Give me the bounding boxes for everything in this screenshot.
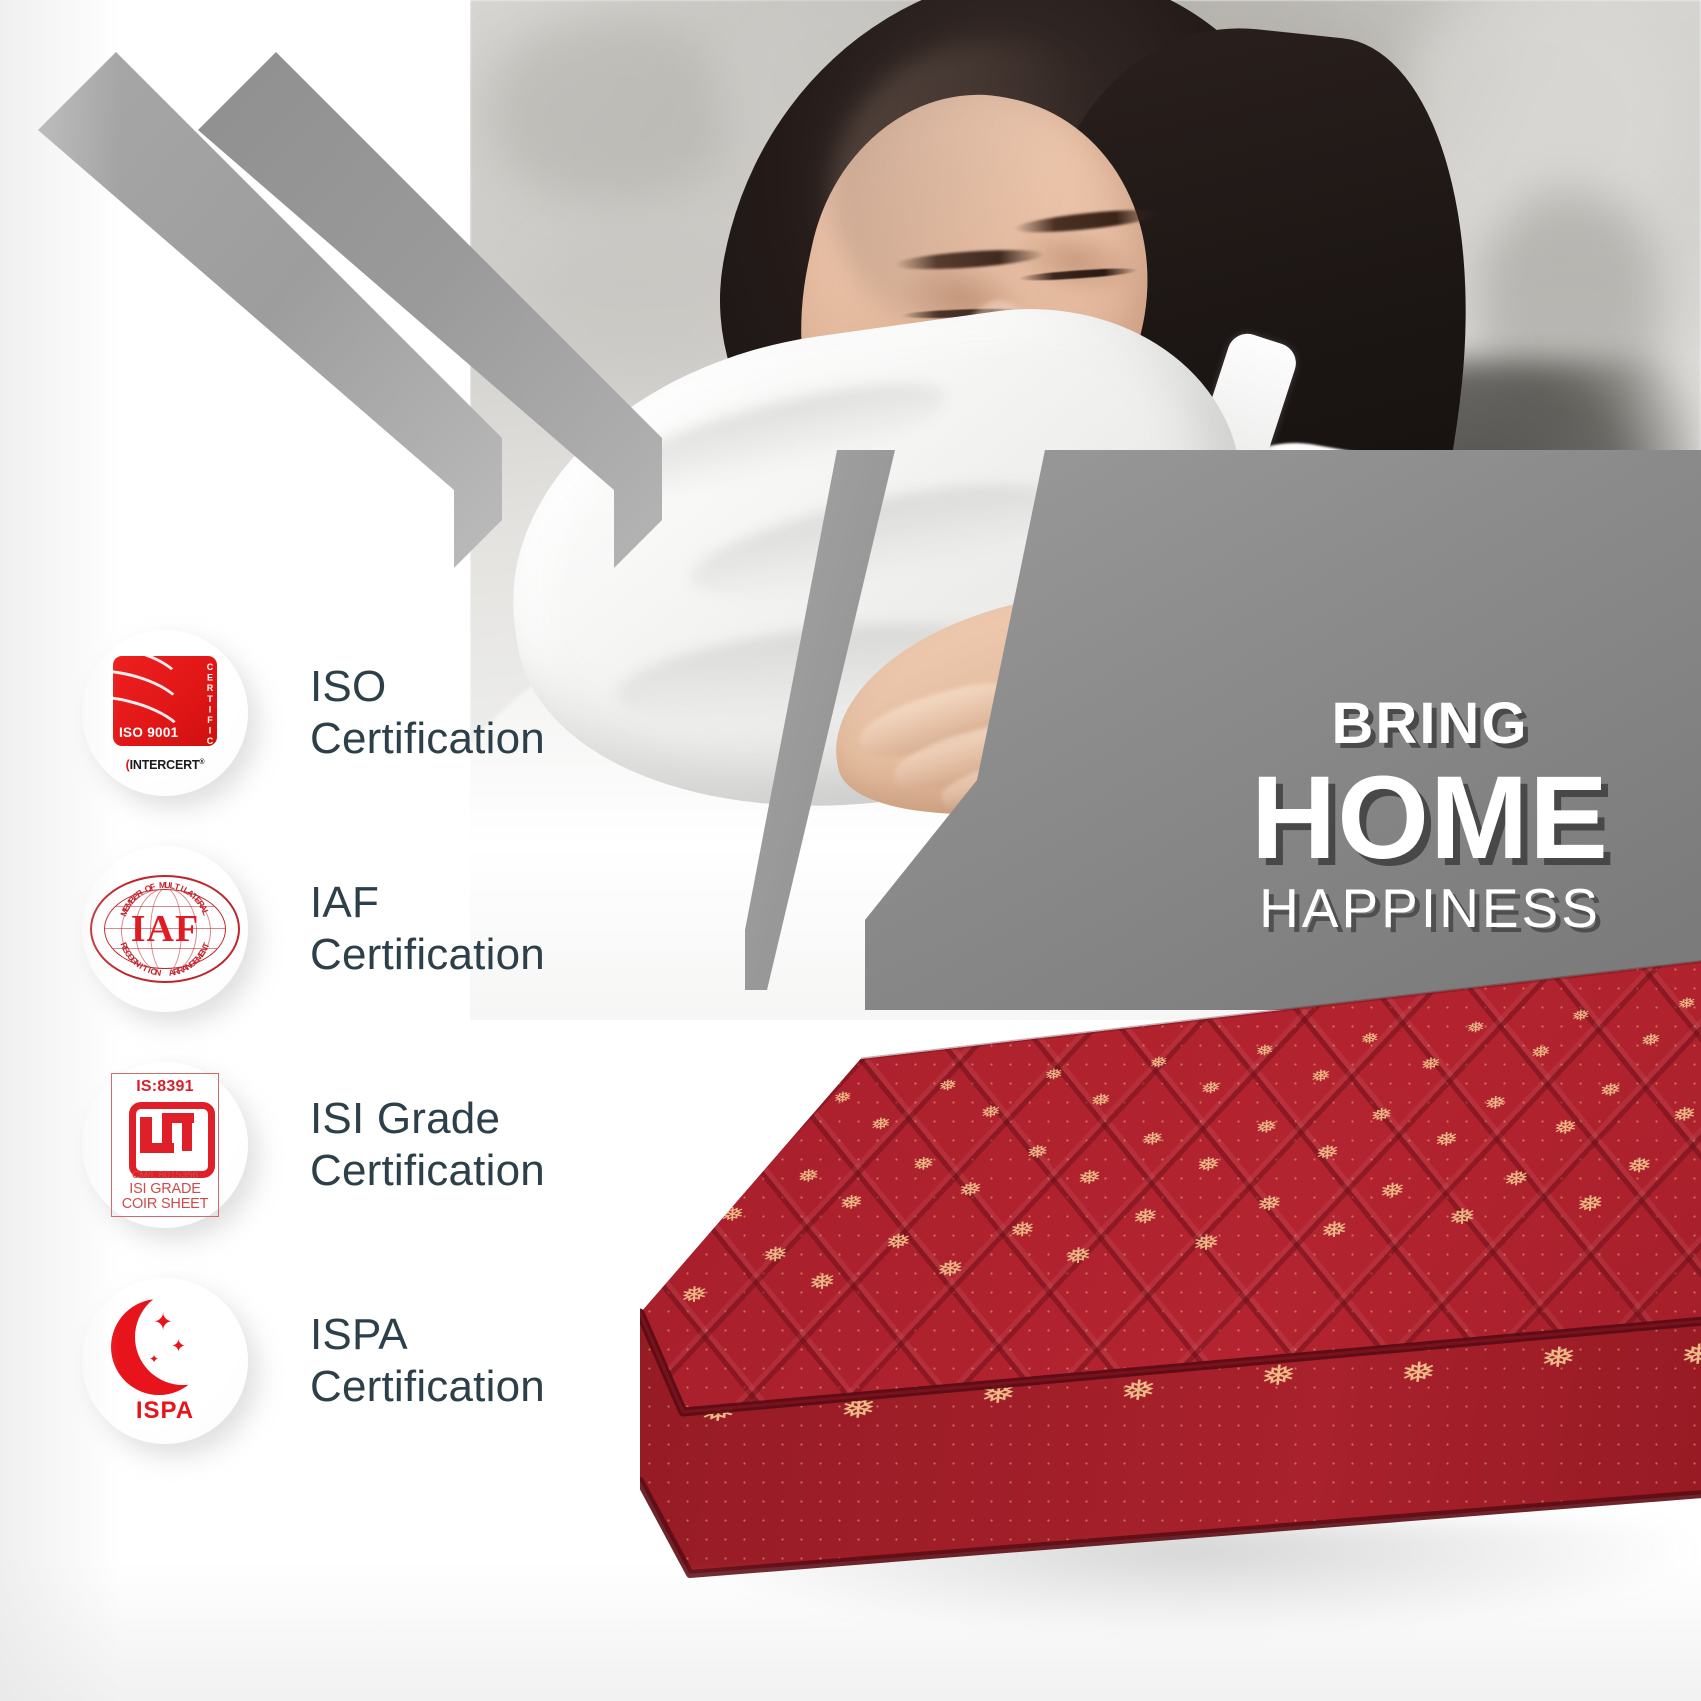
star-icon: ✦ (171, 1337, 186, 1355)
chevron-left-decoration-icon (30, 20, 750, 620)
certification-item-iaf[interactable]: IAF MEMBER OF MULTILATERAL RECOGNITION A… (82, 844, 642, 1014)
certification-label-isi: ISI Grade Certification (310, 1093, 545, 1197)
star-icon: ✦ (149, 1353, 159, 1365)
iaf-globe-badge-icon: IAF MEMBER OF MULTILATERAL RECOGNITION A… (82, 846, 248, 1012)
registered-mark: ® (199, 759, 204, 766)
iso-standard-text: ISO 9001 (119, 725, 178, 740)
red-quilted-coir-mattress: ❅❅❅❅❅❅❅❅❅❅❅❅❅❅❅❅❅❅❅❅❅❅❅❅❅❅❅❅❅❅❅❅❅❅❅❅❅❅❅❅… (640, 960, 1701, 1580)
gray-accent-stripe (745, 450, 895, 990)
ispa-crescent-moon-icon: ✦ ✦ ✦ ISPA (82, 1278, 248, 1444)
certification-label-iaf: IAF Certification (310, 877, 545, 981)
intercert-wordmark: (INTERCERT® (113, 758, 217, 772)
isi-standard-number: IS:8391 (112, 1078, 218, 1096)
advertisement-canvas: BRING HOME HAPPINESS ❅❅❅❅❅❅❅❅❅❅❅❅❅❅❅❅❅❅❅… (0, 0, 1701, 1701)
isi-grade-line-1: ISI GRADE (112, 1182, 218, 1197)
iaf-acronym: IAF (90, 907, 240, 951)
certification-item-ispa[interactable]: ✦ ✦ ✦ ISPA ISPA Certification (82, 1276, 642, 1446)
iso-9001-intercert-badge-icon: CERTIFICATION ISO 9001 (INTERCERT® (82, 630, 248, 796)
intercert-text: INTERCERT (130, 758, 200, 772)
isi-grade-line-2: COIR SHEET (112, 1197, 218, 1212)
headline-line-2: HOME (1160, 759, 1700, 877)
headline-line-3: HAPPINESS (1160, 881, 1700, 936)
certification-label-iso: ISO Certification (310, 661, 545, 765)
certification-item-isi[interactable]: IS:8391 CM/L 8015356 ISI GRADE COIR SHEE… (82, 1060, 642, 1230)
certification-item-iso[interactable]: CERTIFICATION ISO 9001 (INTERCERT® ISO C… (82, 628, 642, 798)
isi-licence-number: CM/L 8015356 (112, 1169, 218, 1181)
isi-standard-mark-icon: IS:8391 CM/L 8015356 ISI GRADE COIR SHEE… (82, 1062, 248, 1228)
isi-monogram (129, 1102, 215, 1178)
headline-line-1: BRING (1160, 695, 1700, 753)
isi-grade-text: ISI GRADE COIR SHEET (112, 1182, 218, 1213)
certification-list: CERTIFICATION ISO 9001 (INTERCERT® ISO C… (82, 628, 642, 1492)
headline-block: BRING HOME HAPPINESS (1160, 695, 1700, 936)
certification-label-ispa: ISPA Certification (310, 1309, 545, 1413)
ispa-acronym: ISPA (105, 1397, 225, 1425)
iso-vertical-text: CERTIFICATION (206, 662, 213, 746)
star-icon: ✦ (153, 1311, 173, 1335)
mattress-piping (640, 960, 1701, 1580)
